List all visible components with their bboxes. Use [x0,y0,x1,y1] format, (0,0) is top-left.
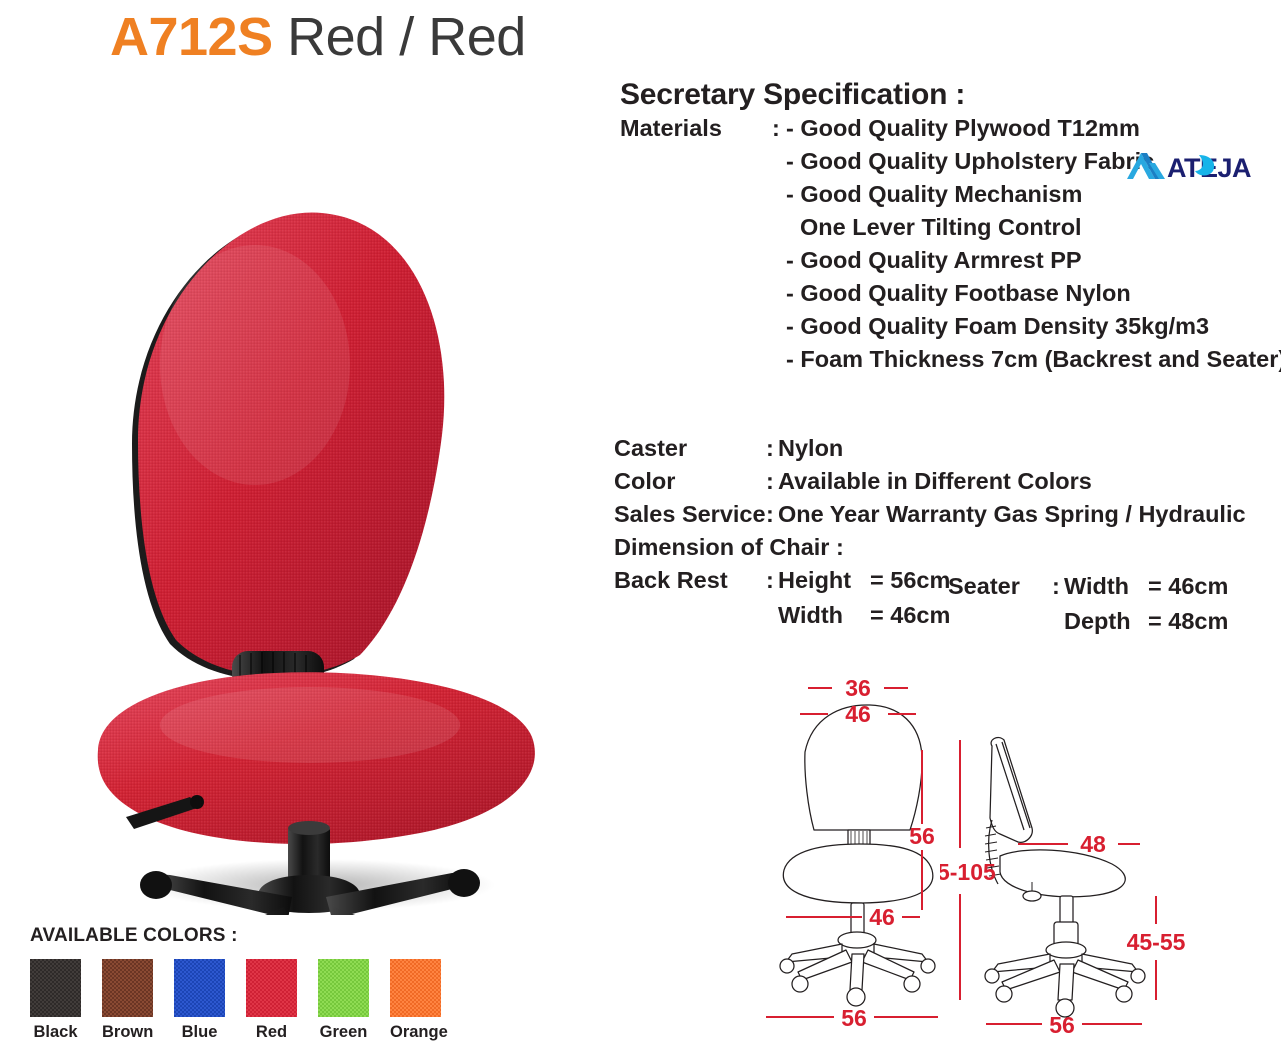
spec-heading: Secretary Specification : [620,80,1274,110]
seater-depth-label: Depth [1064,605,1148,640]
materials-first-line: Materials:- Good Quality Plywood T12mm [620,117,1274,150]
sales-service-value: One Year Warranty Gas Spring / Hydraulic [778,498,1246,531]
page-title: A712S Red / Red [110,6,526,68]
back-rest-height-value: = 56cm [870,564,950,599]
back-rest-spacer [614,599,766,634]
swatch-chip-green[interactable] [318,959,369,1017]
sales-service-label: Sales Service [614,498,766,531]
swatch-label-green: Green [318,1023,369,1042]
seater-width-row: Seater:Width= 46cm [948,570,1228,605]
material-item-3-row: One Lever Tilting Control [620,216,1274,249]
back-rest-spacer2 [766,599,778,634]
chair-product-photo [60,185,580,915]
seater-colon: : [1052,570,1064,605]
dim-overall-height: 95-105 [940,859,996,885]
material-item-1: - Good Quality Upholstery Fabric [786,148,1154,174]
swatch-chip-brown[interactable] [102,959,153,1017]
back-rest-height-label: Height [778,564,870,599]
color-swatch-green[interactable]: Green [318,959,369,1042]
color-colon: : [766,465,778,498]
seater-label: Seater [948,570,1052,605]
caster-colon: : [766,432,778,465]
seater-depth-row: Depth= 48cm [948,605,1228,640]
material-item-2: - Good Quality Mechanism [786,181,1082,207]
dimension-heading-row: Dimension of Chair : [614,531,1274,564]
product-variant: Red / Red [287,7,526,67]
dim-seat-height: 45-55 [1127,929,1186,955]
material-item-6: - Good Quality Foam Density 35kg/m3 [786,313,1209,339]
spec-row-caster: Caster:Nylon [614,432,1274,465]
materials-label: Materials [620,117,772,141]
product-spec-sheet: A712S Red / Red [0,0,1281,1063]
seater-depth-value: = 48cm [1148,605,1228,640]
materials-block: Materials:- Good Quality Plywood T12mm -… [620,117,1274,381]
material-item-7: - Foam Thickness 7cm (Backrest and Seate… [786,346,1281,372]
back-rest-dimensions: Back Rest:Height= 56cm Width= 46cm [614,564,950,634]
swatch-label-black: Black [30,1023,81,1042]
available-colors-section: AVAILABLE COLORS : Black Brown Blue Red … [30,925,441,1042]
material-item-5: - Good Quality Footbase Nylon [786,280,1131,306]
swatch-chip-red[interactable] [246,959,297,1017]
dim-backrest-width: 46 [845,701,871,727]
color-swatch-blue[interactable]: Blue [174,959,225,1042]
technical-drawing-side-view: 95-105 48 45-55 56 [940,700,1205,1063]
seater-width-label: Width [1064,570,1148,605]
swatch-label-brown: Brown [102,1023,153,1042]
material-item-4: - Good Quality Armrest PP [786,247,1082,273]
material-item-6-row: - Good Quality Foam Density 35kg/m3 [620,315,1274,348]
dim-seat-depth: 48 [1080,831,1106,857]
swatch-chip-black[interactable] [30,959,81,1017]
material-item-2-row: - Good Quality Mechanism [620,183,1274,216]
specification-panel: Secretary Specification : Materials:- Go… [614,80,1274,381]
caster-label: Caster [614,432,766,465]
back-rest-colon: : [766,564,778,599]
ateja-logo: ATEJA [1125,147,1255,185]
seater-spacer2 [1052,605,1064,640]
caster-value: Nylon [778,432,843,465]
back-rest-label: Back Rest [614,564,766,599]
swatch-chip-orange[interactable] [390,959,441,1017]
available-colors-title: AVAILABLE COLORS : [30,925,441,947]
spec-row-sales-service: Sales Service:One Year Warranty Gas Spri… [614,498,1274,531]
materials-colon: : [772,117,786,141]
material-item-3: One Lever Tilting Control [800,214,1082,240]
color-value: Available in Different Colors [778,465,1092,498]
material-item-0: - Good Quality Plywood T12mm [786,115,1140,141]
dim-seat-width: 46 [869,904,895,930]
seater-dimensions: Seater:Width= 46cm Depth= 48cm [948,570,1228,640]
material-item-5-row: - Good Quality Footbase Nylon [620,282,1274,315]
material-item-7-row: - Foam Thickness 7cm (Backrest and Seate… [620,348,1274,381]
specification-panel-secondary: Caster:Nylon Color:Available in Differen… [614,432,1274,640]
color-swatch-row: Black Brown Blue Red Green Orange [30,959,441,1042]
dimension-heading: Dimension of Chair : [614,531,844,564]
dim-backrest-height: 56 [909,823,935,849]
swatch-label-blue: Blue [174,1023,225,1042]
color-label: Color [614,465,766,498]
dimension-grid: Back Rest:Height= 56cm Width= 46cm Seate… [614,564,1274,640]
color-swatch-red[interactable]: Red [246,959,297,1042]
swatch-label-orange: Orange [390,1023,441,1042]
product-code: A712S [110,7,273,67]
seater-width-value: = 46cm [1148,570,1228,605]
back-rest-width-label: Width [778,599,870,634]
swatch-label-red: Red [246,1023,297,1042]
material-item-4-row: - Good Quality Armrest PP [620,249,1274,282]
back-rest-width-row: Width= 46cm [614,599,950,634]
dim-base-width: 56 [841,1005,867,1031]
spec-row-color: Color:Available in Different Colors [614,465,1274,498]
back-rest-width-value: = 46cm [870,599,950,634]
color-swatch-orange[interactable]: Orange [390,959,441,1042]
color-swatch-brown[interactable]: Brown [102,959,153,1042]
seater-spacer [948,605,1052,640]
swatch-chip-blue[interactable] [174,959,225,1017]
back-rest-height-row: Back Rest:Height= 56cm [614,564,950,599]
dim-backrest-width-top: 36 [845,675,871,701]
sales-service-colon: : [766,498,778,531]
dim-base-depth: 56 [1049,1012,1075,1038]
color-swatch-black[interactable]: Black [30,959,81,1042]
